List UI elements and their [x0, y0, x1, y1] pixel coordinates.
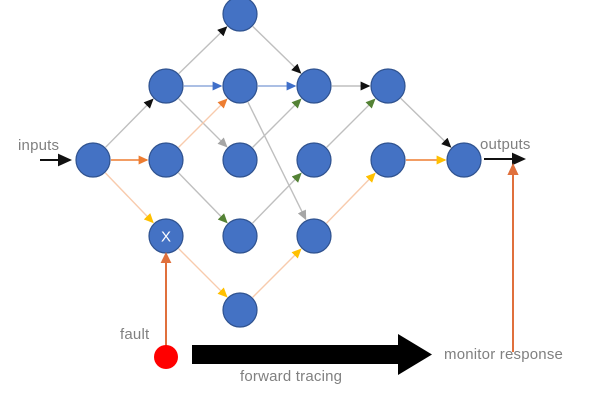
edge-n-c3r3-to-n-c4r2	[327, 174, 375, 223]
node-c1r1[interactable]	[149, 69, 183, 103]
edge-n-c3r2-to-n-c4r1	[327, 99, 375, 147]
edge-n-bottom-to-n-c3r3	[253, 249, 301, 297]
edge-n-input-to-n-fault	[105, 173, 152, 222]
node-bottom[interactable]	[223, 293, 257, 327]
label-outputs: outputs	[480, 136, 531, 153]
label-fault: fault	[120, 326, 149, 343]
node-input[interactable]	[76, 143, 110, 177]
node-c3r1[interactable]	[297, 69, 331, 103]
edge-n-top-to-n-c3r1	[253, 27, 300, 73]
edge-n-input-to-n-c1r1	[106, 100, 153, 148]
node-c2r1[interactable]	[223, 69, 257, 103]
node-c4r2[interactable]	[371, 143, 405, 177]
node-fault-x-label: X	[161, 229, 171, 246]
node-top[interactable]	[223, 0, 257, 31]
label-inputs: inputs	[18, 137, 59, 154]
network-graph-svg: X	[0, 0, 600, 400]
edge-n-c2r3-to-n-c3r2	[253, 174, 301, 223]
fault-arrow	[161, 252, 172, 348]
edge-n-c4r1-to-n-output	[401, 99, 450, 147]
edge-n-c1r1-to-n-top	[179, 27, 226, 73]
monitor-response-arrow	[507, 163, 518, 352]
node-c2r2[interactable]	[223, 143, 257, 177]
label-forward-tracing: forward tracing	[240, 368, 342, 385]
diagram-canvas: X inputs outputs fault forward tracing m…	[0, 0, 600, 400]
node-c4r1[interactable]	[371, 69, 405, 103]
node-c2r3[interactable]	[223, 219, 257, 253]
fault-dot	[154, 345, 178, 369]
edge-n-c2r2-to-n-c3r1	[253, 99, 301, 147]
node-c1r2[interactable]	[149, 143, 183, 177]
edge-n-fault-to-n-bottom	[179, 249, 227, 297]
label-monitor-response: monitor response	[444, 346, 563, 363]
edge-n-c1r2-to-n-c2r3	[179, 173, 227, 222]
node-output[interactable]	[447, 143, 481, 177]
node-c3r3[interactable]	[297, 219, 331, 253]
node-c3r2[interactable]	[297, 143, 331, 177]
